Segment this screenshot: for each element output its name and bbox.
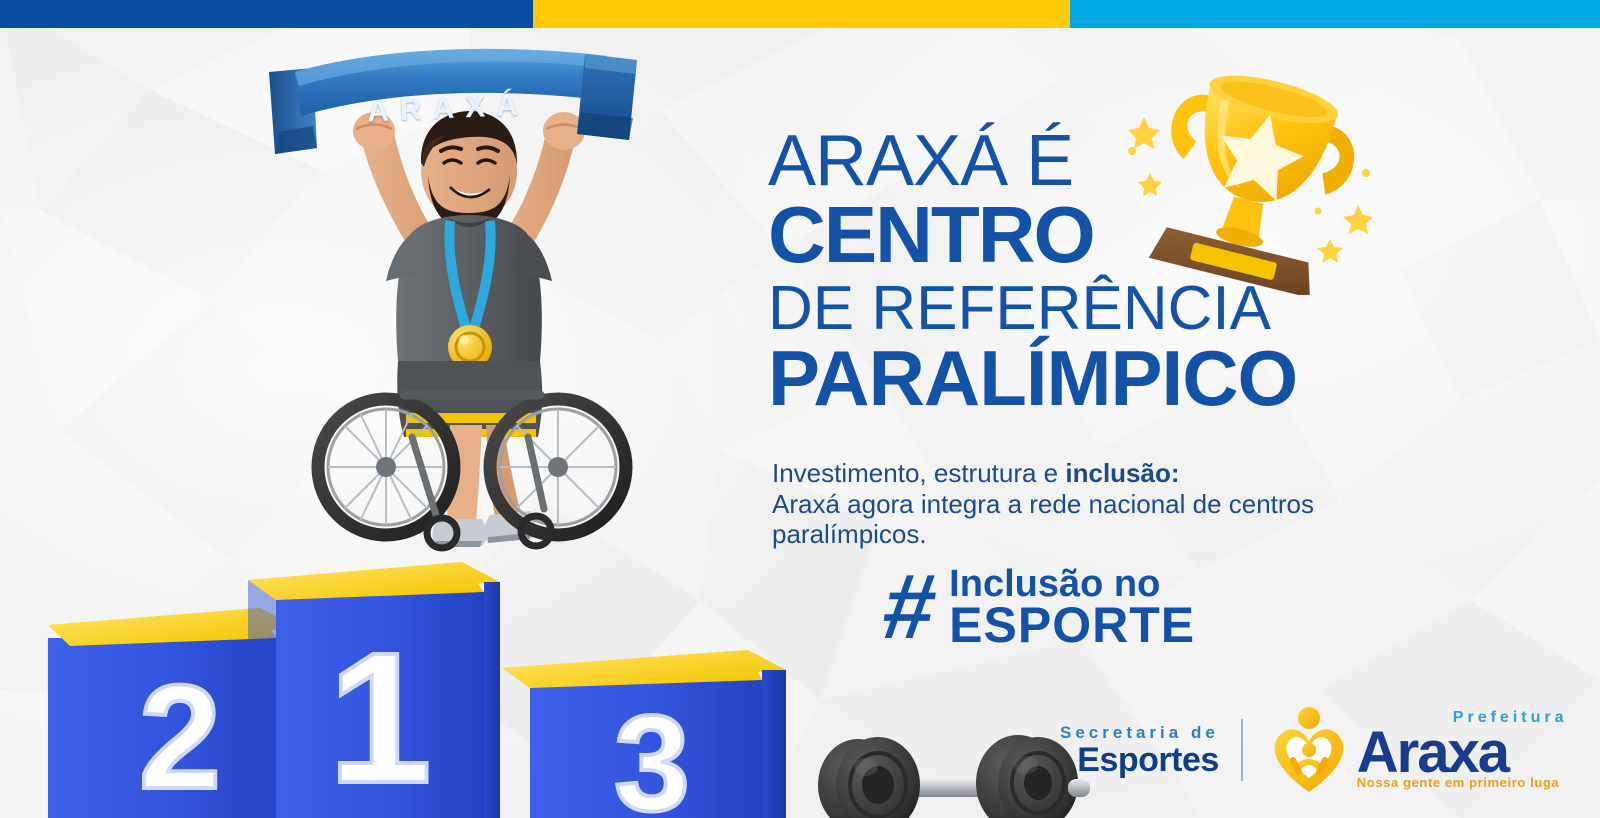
prefeitura-wordmark: Prefeitura Araxa Nossa gente em primeiro… — [1357, 712, 1559, 789]
subtitle-emphasis: inclusão: — [1065, 458, 1179, 488]
banner-canvas: ARAXÁ — [0, 0, 1600, 818]
headline-line-4: PARALÍMPICO — [768, 343, 1297, 415]
prefeitura-tagline: Nossa gente em primeiro luga — [1357, 776, 1559, 789]
subtitle-block: Investimento, estrutura e inclusão: Arax… — [772, 458, 1372, 550]
araxa-ribbon: ARAXÁ — [255, 30, 655, 190]
prefeitura-label-big: Araxa — [1357, 724, 1559, 782]
subtitle-lead: Investimento, estrutura e — [772, 458, 1065, 488]
svg-text:3: 3 — [614, 687, 690, 818]
podium-illustration: 2 1 3 — [30, 520, 890, 818]
svg-text:1: 1 — [328, 615, 431, 818]
secretaria-label-bottom: Esportes — [1060, 743, 1219, 777]
logo-divider — [1241, 719, 1243, 781]
secretaria-logo: Secretaria de Esportes — [1060, 724, 1219, 777]
prefeitura-logo: Prefeitura Araxa Nossa gente em primeiro… — [1265, 704, 1559, 796]
headline-block: ARAXÁ É CENTRO DE REFERÊNCIA PARALÍMPICO — [768, 128, 1297, 415]
hashtag-block: # Inclusão no ESPORTE — [884, 566, 1195, 650]
topbar-segment-cyan — [1070, 0, 1600, 28]
topbar-segment-yellow — [533, 0, 1070, 28]
hashtag-words: Inclusão no ESPORTE — [949, 566, 1195, 650]
heart-family-icon — [1265, 704, 1353, 796]
headline-line-1: ARAXÁ É — [768, 128, 1297, 194]
topbar-segment-blue — [0, 0, 533, 28]
hashtag-line-2: ESPORTE — [949, 602, 1195, 650]
top-color-bar — [0, 0, 1600, 28]
headline-line-2: CENTRO — [768, 198, 1297, 272]
secretaria-label-top: Secretaria de — [1060, 724, 1219, 741]
subtitle-rest: Araxá agora integra a rede nacional de c… — [772, 489, 1314, 550]
headline-line-3: DE REFERÊNCIA — [768, 280, 1297, 337]
svg-text:2: 2 — [139, 655, 221, 818]
logo-strip: Secretaria de Esportes — [1060, 700, 1580, 800]
prefeitura-label-small: Prefeitura — [1453, 710, 1568, 726]
hash-symbol: # — [879, 571, 941, 645]
